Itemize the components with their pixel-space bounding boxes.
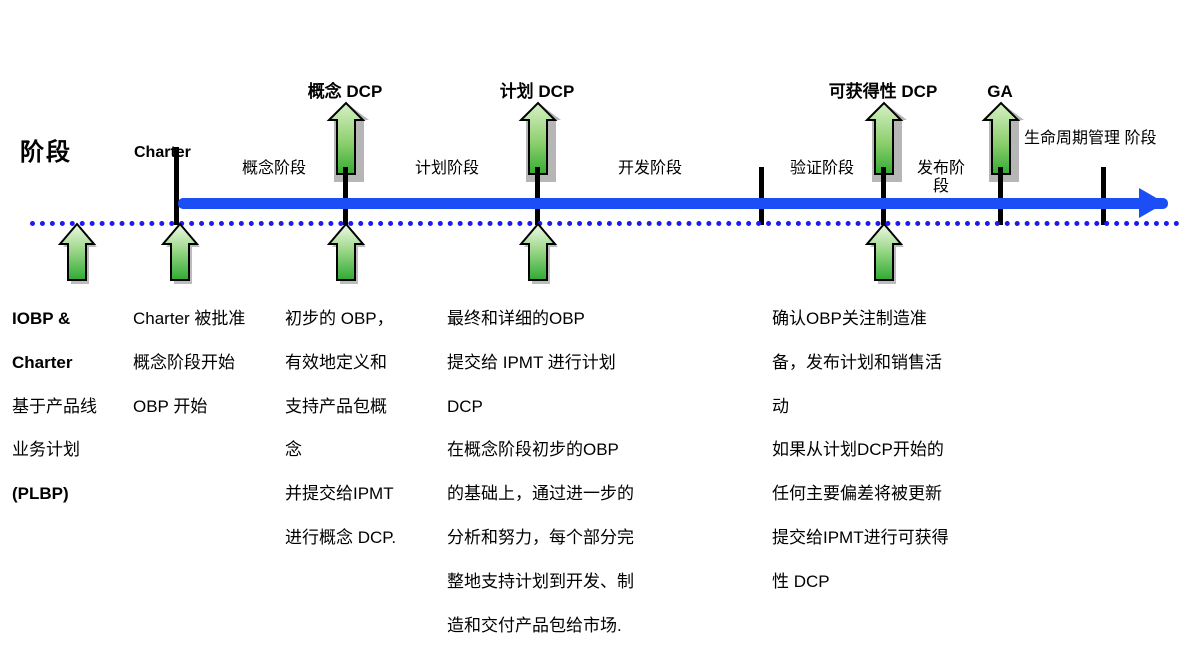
- up-arrow-charter-approved: [159, 222, 201, 284]
- charter-label: Charter: [134, 144, 191, 162]
- note-line: 初步的 OBP，: [285, 308, 445, 330]
- timeline-axis: [178, 198, 1168, 209]
- up-arrow-preliminary-obp: [325, 222, 367, 284]
- timeline-arrowhead: [1139, 188, 1165, 218]
- phase-label-lifecycle: 生命周期管理 阶段: [1024, 130, 1174, 148]
- note-line: 支持产品包概: [285, 396, 445, 418]
- tick-ga: [998, 167, 1003, 225]
- note-line: 分析和努力，每个部分完: [447, 527, 697, 549]
- note-line: (PLBP): [12, 483, 132, 505]
- note-line: 提交给 IPMT 进行计划: [447, 352, 697, 374]
- note-line: 业务计划: [12, 439, 132, 461]
- note-line: 念: [285, 439, 445, 461]
- note-preliminary-obp: 初步的 OBP， 有效地定义和 支持产品包概 念 并提交给IPMT 进行概念 D…: [285, 286, 445, 571]
- note-line: 造和交付产品包给市场.: [447, 615, 697, 637]
- tick-lifecycle: [1101, 167, 1106, 225]
- milestone-label-concept-dcp: 概念 DCP: [265, 82, 425, 101]
- note-line: 提交给IPMT进行可获得: [772, 527, 1012, 549]
- tick-plan-dcp: [535, 167, 540, 225]
- note-line: OBP 开始: [133, 396, 293, 418]
- note-final-obp: 最终和详细的OBP 提交给 IPMT 进行计划 DCP 在概念阶段初步的OBP …: [447, 286, 697, 659]
- note-charter-approved: Charter 被批准 概念阶段开始 OBP 开始: [133, 286, 293, 439]
- phase-label-plan: 计划阶段: [397, 160, 497, 178]
- note-line: 整地支持计划到开发、制: [447, 571, 697, 593]
- note-confirm-obp: 确认OBP关注制造准 备，发布计划和销售活 动 如果从计划DCP开始的 任何主要…: [772, 286, 1012, 615]
- phase-label-develop: 开发阶段: [600, 160, 700, 178]
- phase-label-concept: 概念阶段: [224, 160, 324, 178]
- note-line: 基于产品线: [12, 396, 132, 418]
- note-line: 最终和详细的OBP: [447, 308, 697, 330]
- note-line: IOBP &: [12, 308, 132, 330]
- note-line: 并提交给IPMT: [285, 483, 445, 505]
- note-line: 性 DCP: [772, 571, 1012, 593]
- note-line: 动: [772, 396, 1012, 418]
- note-line: 确认OBP关注制造准: [772, 308, 1012, 330]
- milestone-label-plan-dcp: 计划 DCP: [457, 82, 617, 101]
- tick-charter: [174, 147, 179, 225]
- note-line: 进行概念 DCP.: [285, 527, 445, 549]
- note-line: 在概念阶段初步的OBP: [447, 439, 697, 461]
- up-arrow-confirm-obp: [863, 222, 905, 284]
- note-line: 备，发布计划和销售活: [772, 352, 1012, 374]
- tick-develop-end: [759, 167, 764, 225]
- note-iobp-charter: IOBP & Charter 基于产品线 业务计划 (PLBP): [12, 286, 132, 527]
- baseline-dotted-line: [30, 221, 1180, 226]
- phase-label-verify: 验证阶段: [772, 160, 872, 178]
- note-line: 如果从计划DCP开始的: [772, 439, 1012, 461]
- note-line: Charter: [12, 352, 132, 374]
- up-arrow-iobp-charter: [56, 222, 98, 284]
- note-line: Charter 被批准: [133, 308, 293, 330]
- tick-concept-dcp: [343, 167, 348, 225]
- phase-label-release: 发布阶 段: [909, 160, 973, 196]
- note-line: 概念阶段开始: [133, 352, 293, 374]
- milestone-label-ga: GA: [940, 82, 1060, 101]
- up-arrow-final-obp: [517, 222, 559, 284]
- note-line: 任何主要偏差将被更新: [772, 483, 1012, 505]
- note-line: 有效地定义和: [285, 352, 445, 374]
- note-line: 的基础上，通过进一步的: [447, 483, 697, 505]
- timeline-diagram: 阶段 Charter 概念阶段 计划阶段 开发阶段 验证阶段 发布阶 段 生命周…: [0, 0, 1188, 507]
- note-line: DCP: [447, 396, 697, 418]
- tick-availability: [881, 167, 886, 225]
- page-title: 阶段: [20, 140, 72, 167]
